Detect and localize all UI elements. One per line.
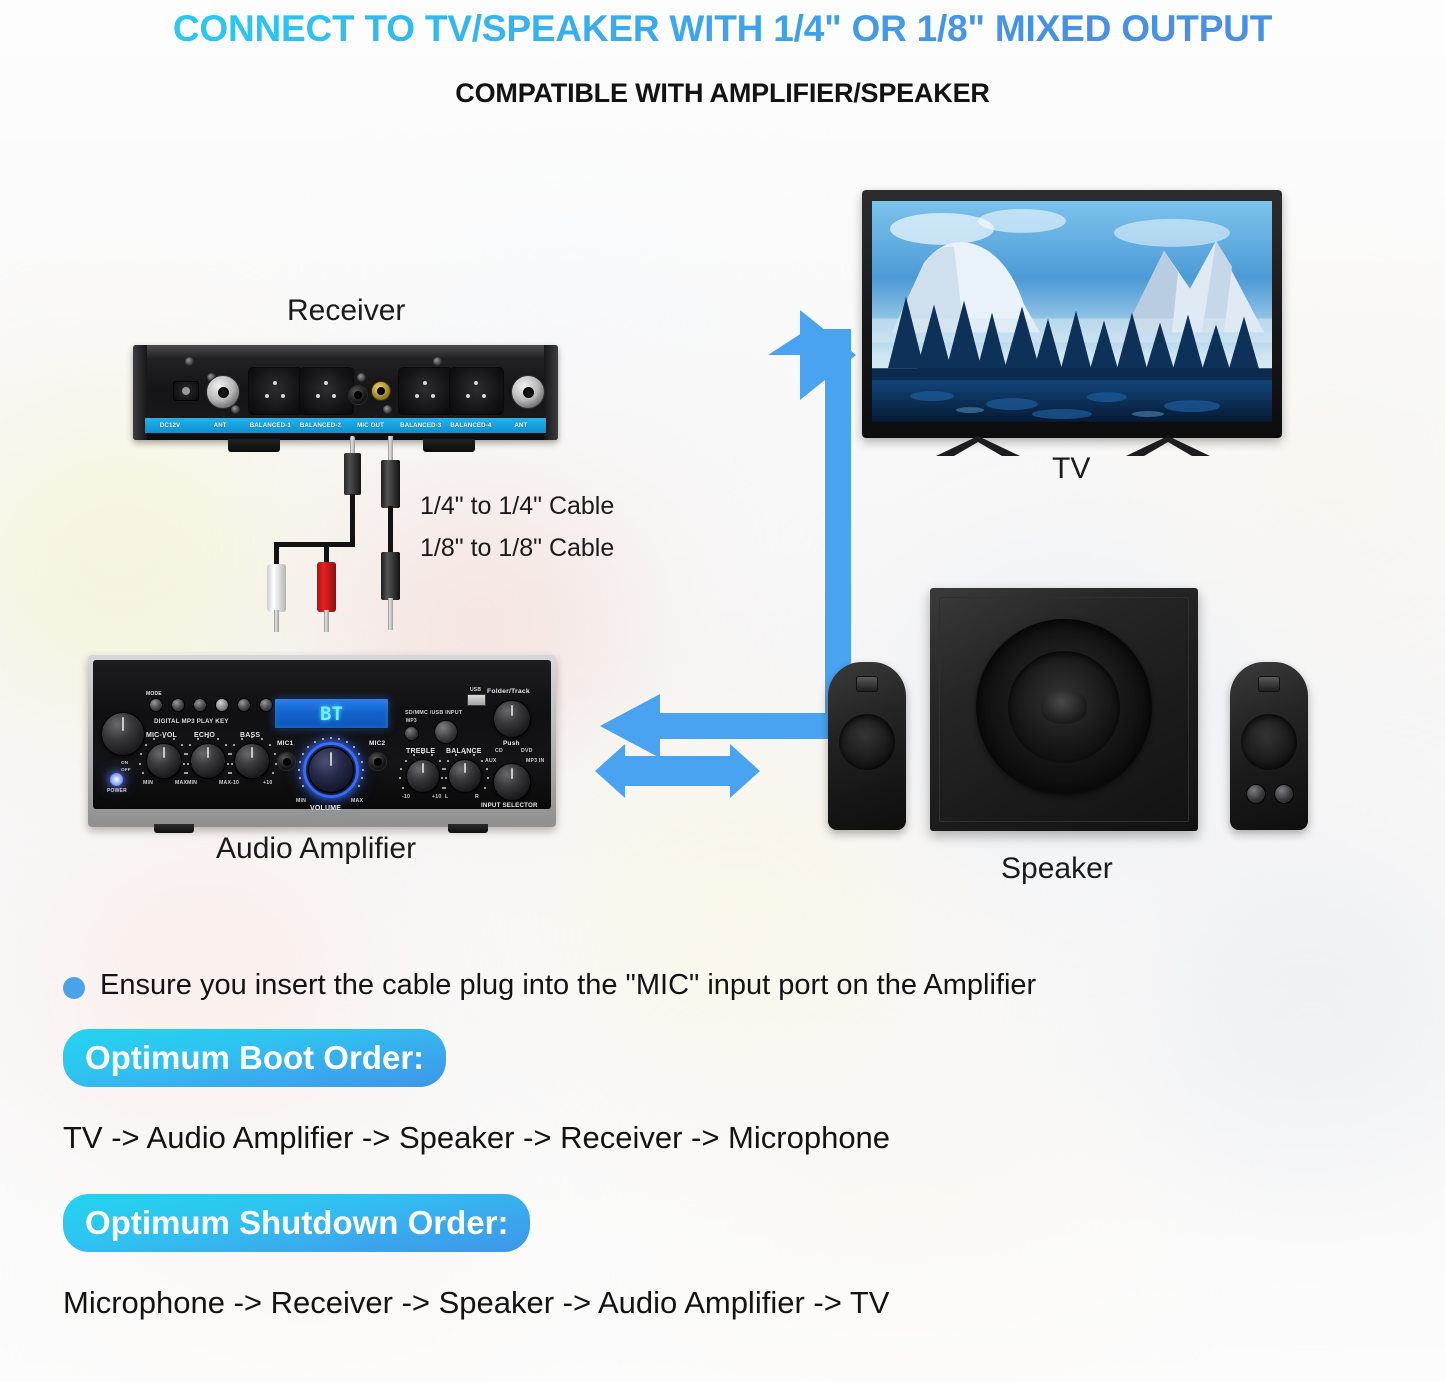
speaker-system [806, 588, 1362, 846]
satellite-speaker-right [1230, 662, 1308, 830]
knob-tick [230, 772, 232, 774]
knob-tick [173, 738, 175, 740]
volume-max: MAX [351, 798, 363, 804]
receiver-caption: Receiver [287, 294, 405, 328]
play-button[interactable] [171, 698, 185, 712]
digital-mp3-play-key-label: DIGITAL MP3 PLAY KEY [154, 718, 229, 725]
folder-track-label: Folder/Track [487, 688, 530, 695]
quarter-inch-plug-top [381, 460, 400, 508]
knob-tick [422, 752, 424, 754]
balance-knob[interactable] [448, 759, 482, 793]
knob-tick [442, 768, 444, 770]
knob-tick [447, 760, 449, 762]
xlr-balanced-3 [398, 367, 453, 415]
mic-vol-knob[interactable] [146, 743, 182, 779]
volume-label: VOLUME [310, 805, 341, 812]
cable-label-eighth-inch: 1/8" to 1/8" Cable [420, 534, 614, 563]
echo-max: MAX [219, 780, 231, 786]
arrow-amp-to-speaker [595, 744, 760, 798]
bass-max: +10 [263, 780, 272, 786]
usb-label: USB [470, 687, 481, 693]
tweeter-right [1258, 676, 1280, 692]
amplifier-caption: Audio Amplifier [216, 832, 416, 866]
xlr-balanced-4 [449, 367, 504, 415]
treble-max: +10 [432, 794, 441, 800]
port-label-balanced-4: BALANCED-4 [446, 422, 496, 429]
cable-label-quarter-inch: 1/4" to 1/4" Cable [420, 492, 614, 521]
lcd-display: BT [274, 698, 389, 729]
volume-knob[interactable] [308, 747, 354, 793]
knob-tick [189, 744, 191, 746]
mp3-jack[interactable] [404, 726, 419, 741]
echo-knob[interactable] [190, 743, 226, 779]
knob-tick [261, 738, 263, 740]
push-label: Push [503, 740, 520, 747]
knob-tick [445, 777, 447, 779]
knob-tick [302, 785, 304, 787]
input-option-mp3: MP3 IN [526, 758, 545, 764]
knob-tick [197, 738, 199, 740]
bullet-dot-icon [63, 977, 85, 999]
port-label-ant-right: ANT [496, 422, 546, 429]
quarter-inch-plug-top-tip [388, 436, 393, 462]
knob-tick [358, 753, 360, 755]
rca-plug-red [317, 562, 336, 612]
knob-tick [307, 746, 309, 748]
knob-tick [163, 736, 165, 738]
sd-card-slot[interactable] [434, 720, 458, 744]
knob-tick [399, 777, 401, 779]
boot-order-pill: Optimum Boot Order: [63, 1029, 446, 1087]
knob-tick [441, 777, 443, 779]
knob-tick [439, 760, 441, 762]
knob-tick [444, 787, 446, 789]
knob-tick [181, 744, 183, 746]
page-title: CONNECT TO TV/SPEAKER WITH 1/4" OR 1/8" … [0, 8, 1445, 50]
knob-tick [140, 753, 142, 755]
knob-tick [361, 777, 363, 779]
knob-tick [322, 738, 324, 740]
port-label-balanced-3: BALANCED-3 [396, 422, 446, 429]
shutdown-order-label: Optimum Shutdown Order: [85, 1204, 508, 1242]
knob-tick [233, 744, 235, 746]
knob-tick [484, 787, 486, 789]
mic1-input-jack[interactable] [277, 752, 296, 771]
shutdown-order-chain: Microphone -> Receiver -> Speaker -> Aud… [63, 1285, 889, 1321]
treble-knob[interactable] [406, 759, 440, 793]
prev-button[interactable] [259, 698, 273, 712]
input-option-aux: AUX [485, 758, 497, 764]
shutdown-order-pill: Optimum Shutdown Order: [63, 1194, 530, 1252]
input-option-dvd: DVD [521, 748, 533, 754]
knob-tick [444, 768, 446, 770]
mp3-label: MP3 [406, 718, 417, 724]
knob-tick [361, 761, 363, 763]
mic1-label: MIC1 [277, 740, 293, 747]
receiver-port-label-strip: DC12V ANT BALANCED-1 BALANCED-2 MIC OUT … [145, 418, 546, 433]
xlr-balanced-1 [248, 367, 303, 415]
eighth-inch-plug [344, 453, 361, 495]
knob-tick [227, 763, 229, 765]
mic2-input-jack[interactable] [368, 752, 387, 771]
power-knob[interactable] [101, 712, 145, 756]
knob-tick [405, 760, 407, 762]
power-led [110, 773, 123, 786]
port-label-ant-left: ANT [195, 422, 245, 429]
knob-tick [464, 752, 466, 754]
knob-tick [353, 746, 355, 748]
knob-tick [225, 744, 227, 746]
stop-button[interactable] [193, 698, 207, 712]
driver-left [839, 714, 895, 770]
port-label-dc12v: DC12V [145, 422, 195, 429]
knob-tick [481, 760, 483, 762]
dc-power-jack [173, 381, 199, 401]
power-label: POWER [107, 788, 127, 794]
knob-tick [207, 736, 209, 738]
receiver-device: DC12V ANT BALANCED-1 BALANCED-2 MIC OUT … [133, 345, 558, 440]
knob-tick [346, 741, 348, 743]
knob-tick [362, 769, 364, 771]
knob-tick [230, 753, 232, 755]
boot-order-chain: TV -> Audio Amplifier -> Speaker -> Rece… [63, 1120, 890, 1156]
knob-tick [153, 738, 155, 740]
mic2-label: MIC2 [369, 740, 385, 747]
knob-tick [183, 763, 185, 765]
knob-tick [272, 772, 274, 774]
antenna-connector-right [511, 375, 545, 409]
speaker-caption: Speaker [1001, 852, 1113, 886]
tv-screen-image [872, 201, 1272, 422]
audio-amplifier-device: ON OFF POWER MODE DIGITAL MP3 PLAY KEY M… [88, 655, 556, 827]
woofer-cone [976, 619, 1152, 795]
knob-tick [139, 763, 141, 765]
tweeter-left [856, 676, 878, 692]
sd-mmc-usb-input-label: SD/MMC /USB INPUT [405, 710, 462, 716]
mode-button-label: MODE [146, 691, 162, 697]
xlr-balanced-2 [299, 367, 354, 415]
mic-port-note: Ensure you insert the cable plug into th… [100, 969, 1036, 1002]
treble-min: -10 [402, 794, 410, 800]
usb-port[interactable] [467, 694, 486, 706]
mic-vol-max: MAX [175, 780, 187, 786]
knob-tick [228, 753, 230, 755]
knob-tick [299, 777, 301, 779]
knob-tick [338, 738, 340, 740]
mic-vol-min: MIN [143, 780, 153, 786]
knob-tick [487, 777, 489, 779]
knob-tick [400, 768, 402, 770]
rca-plug-white [267, 564, 286, 612]
knob-tick [217, 738, 219, 740]
knob-tick [275, 763, 277, 765]
input-selector-knob[interactable] [493, 763, 531, 801]
page-subtitle: COMPATIBLE WITH AMPLIFIER/SPEAKER [0, 78, 1445, 109]
mic-out-jack-small [348, 385, 368, 405]
power-on-label: ON [121, 760, 128, 765]
folder-track-knob[interactable] [493, 700, 531, 738]
port-label-balanced-1: BALANCED-1 [245, 422, 295, 429]
knob-tick [142, 772, 144, 774]
boot-order-label: Optimum Boot Order: [85, 1039, 424, 1077]
knob-tick [302, 753, 304, 755]
subwoofer [930, 588, 1198, 831]
tv-caption: TV [1052, 452, 1090, 486]
knob-tick [184, 753, 186, 755]
arrowhead-to-tv [800, 310, 856, 400]
power-off-label: OFF [121, 767, 131, 772]
knob-tick [486, 768, 488, 770]
next-button[interactable] [237, 698, 251, 712]
bass-label: BASS [240, 732, 260, 739]
knob-tick [251, 736, 253, 738]
bass-knob[interactable] [234, 743, 270, 779]
knob-tick [413, 754, 415, 756]
tv-device [862, 190, 1282, 438]
antenna-connector-left [206, 375, 240, 409]
mic-out-jack-gold [371, 381, 391, 401]
knob-tick [298, 769, 300, 771]
balance-max: R [475, 794, 479, 800]
bass-min: -10 [231, 780, 239, 786]
balance-min: L [445, 794, 448, 800]
input-option-cd: CD [495, 748, 503, 754]
speaker-bass-knob [1274, 784, 1294, 804]
driver-right [1241, 714, 1297, 770]
port-label-balanced-2: BALANCED-2 [295, 422, 345, 429]
repeat-button[interactable] [215, 698, 229, 712]
knob-tick [186, 753, 188, 755]
input-selector-label: INPUT SELECTOR [481, 802, 538, 809]
knob-tick [358, 785, 360, 787]
knob-tick [187, 763, 189, 765]
knob-tick [241, 738, 243, 740]
knob-tick [145, 744, 147, 746]
knob-tick [402, 787, 404, 789]
knob-tick [274, 753, 276, 755]
quarter-inch-plug-bottom [381, 552, 400, 600]
knob-tick [299, 761, 301, 763]
knob-tick [231, 763, 233, 765]
lcd-value: BT [320, 703, 343, 725]
quarter-inch-plug-bottom-tip [388, 598, 393, 630]
mode-button[interactable] [149, 698, 163, 712]
volume-min: MIN [296, 798, 306, 804]
knob-tick [314, 741, 316, 743]
knob-tick [269, 744, 271, 746]
echo-min: MIN [187, 780, 197, 786]
knob-tick [186, 772, 188, 774]
satellite-speaker-left [828, 662, 906, 830]
knob-tick [455, 754, 457, 756]
knob-tick [330, 737, 332, 739]
port-label-mic-out: MIC OUT [346, 422, 396, 429]
speaker-volume-knob [1246, 784, 1266, 804]
